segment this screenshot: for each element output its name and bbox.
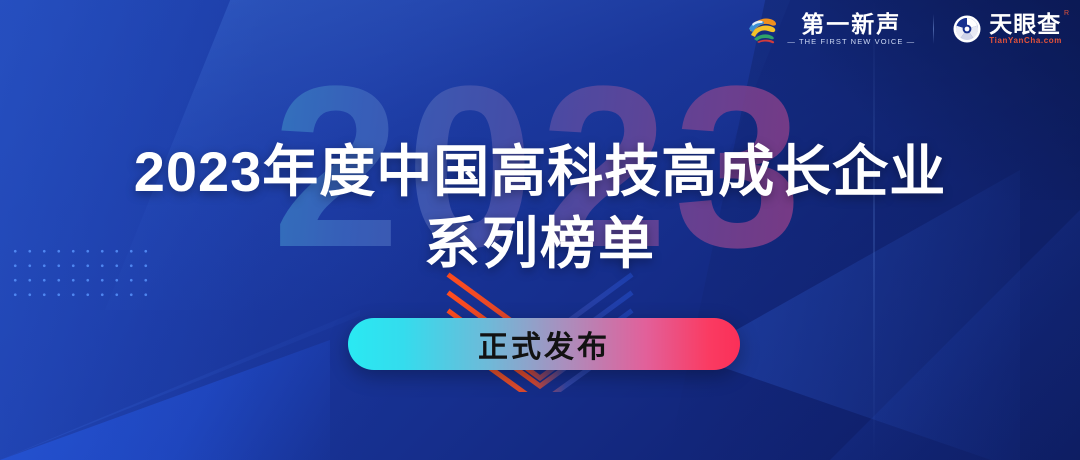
logo-tianyancha-name-en: TianYanCha.com: [989, 36, 1062, 46]
promo-banner: 2023: [0, 0, 1080, 460]
logo-first-new-voice-name-cn: 第一新声: [801, 12, 901, 36]
release-status-pill[interactable]: 正式发布: [348, 318, 740, 370]
logo-first-new-voice-text: 第一新声 — THE FIRST NEW VOICE —: [787, 12, 915, 46]
registered-trademark-icon: R: [1064, 10, 1069, 17]
headline-line-1: 2023年度中国高科技高成长企业: [0, 136, 1080, 208]
logo-divider: [933, 14, 934, 44]
bg-facet-bottom-left-accent: [0, 310, 360, 460]
ribbon-swirl-icon: [746, 12, 780, 46]
logo-first-new-voice-name-en: — THE FIRST NEW VOICE —: [787, 37, 915, 46]
aperture-eye-icon: [952, 14, 982, 44]
logo-tianyancha-text: 天眼查 R TianYanCha.com: [989, 12, 1062, 46]
headline-line-2: 系列榜单: [0, 208, 1080, 280]
release-status-label: 正式发布: [478, 322, 610, 366]
bg-facet-bottom-left-triangle: [0, 340, 330, 460]
logo-tianyancha-name-cn: 天眼查: [989, 12, 1061, 36]
page-title: 2023年度中国高科技高成长企业 系列榜单: [0, 136, 1080, 280]
partner-logos: 第一新声 — THE FIRST NEW VOICE —: [746, 12, 1062, 46]
logo-first-new-voice[interactable]: 第一新声 — THE FIRST NEW VOICE —: [746, 12, 915, 46]
logo-tianyancha[interactable]: 天眼查 R TianYanCha.com: [952, 12, 1062, 46]
